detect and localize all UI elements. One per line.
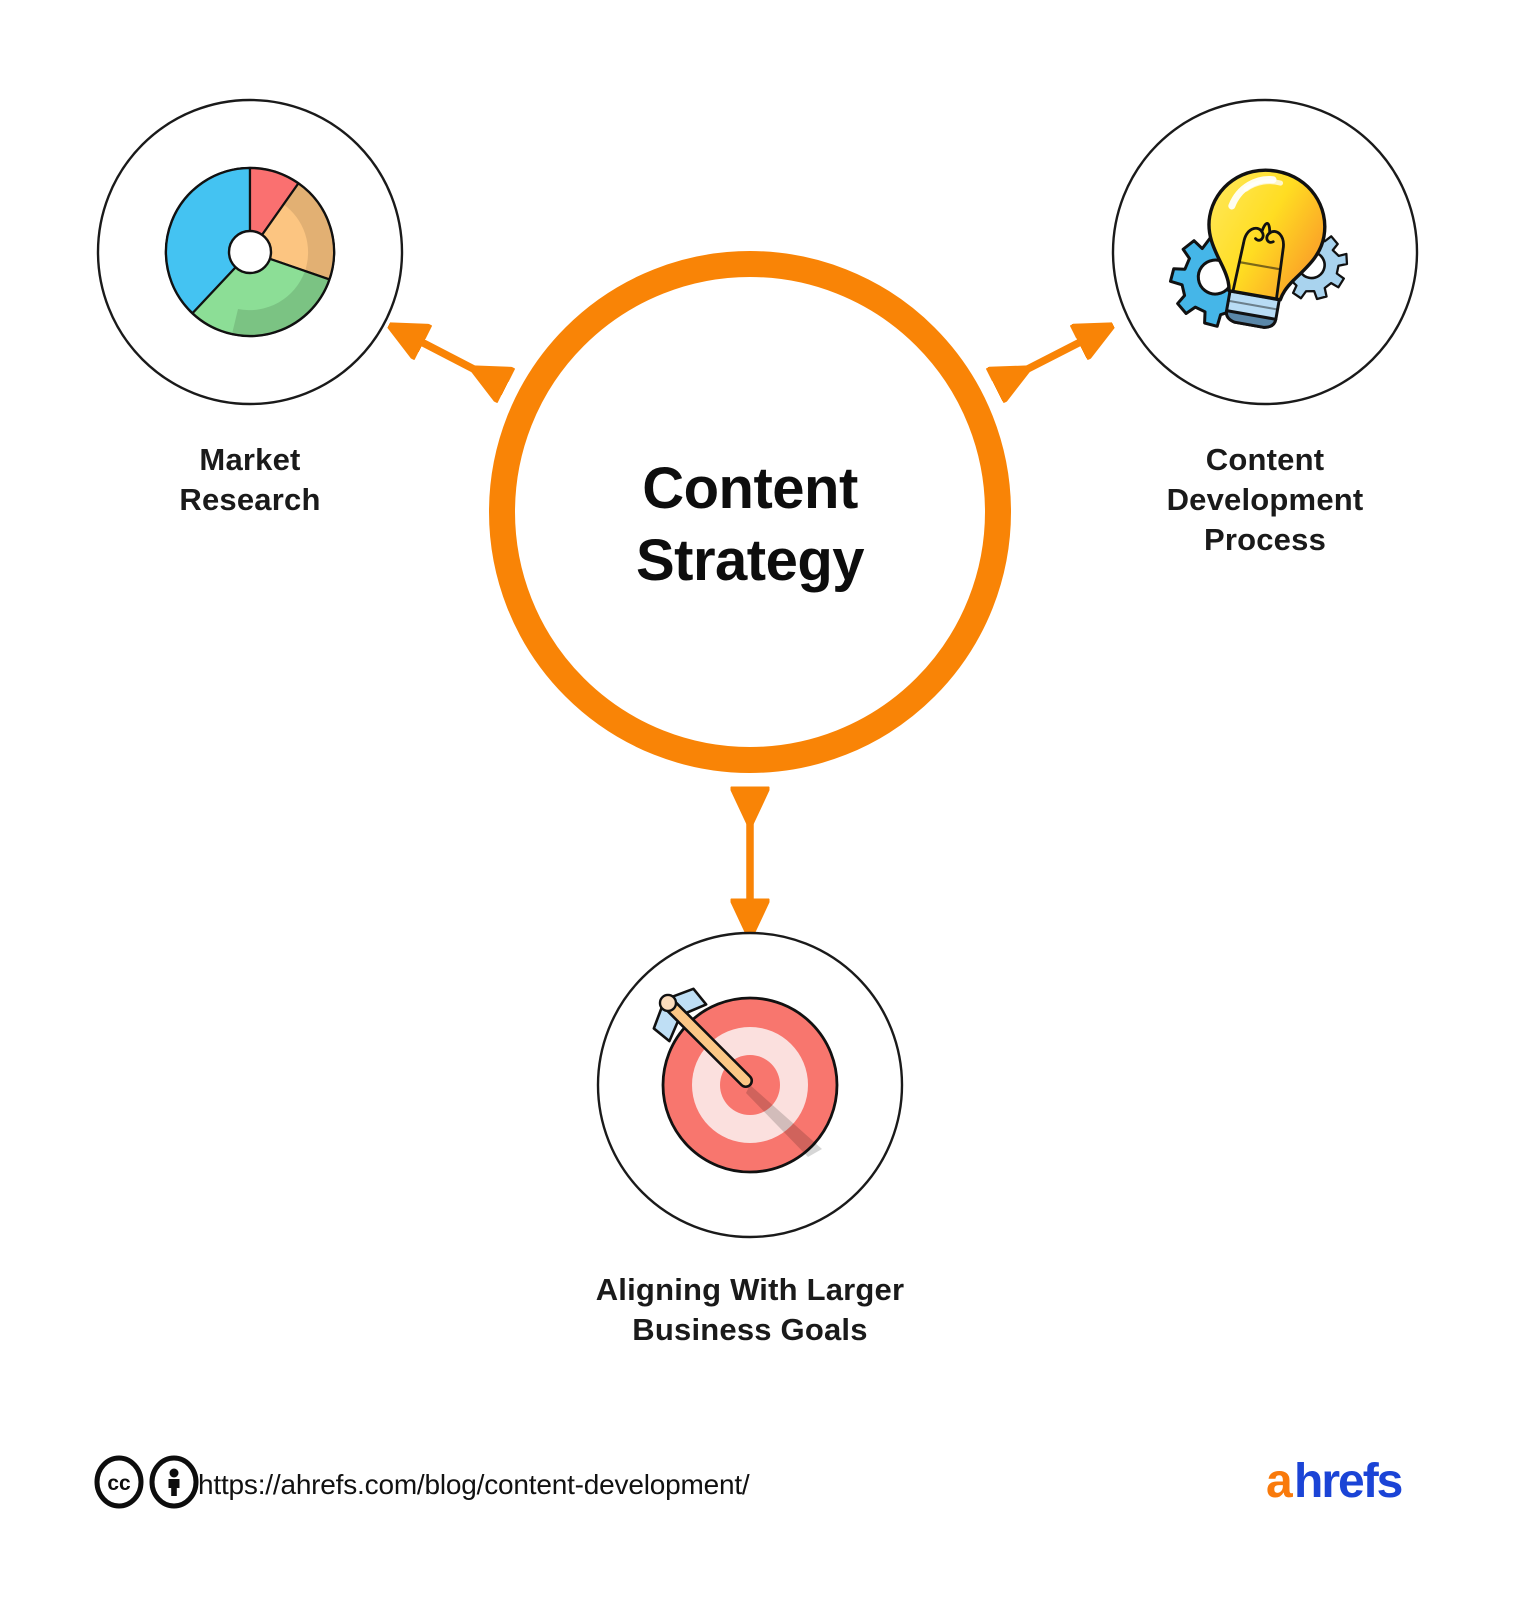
connector-hub-to-market-research: [406, 334, 489, 377]
node-label-content-development-line3: Process: [1204, 522, 1326, 557]
hub-node[interactable]: Content Strategy: [502, 264, 998, 760]
svg-text:cc: cc: [107, 1472, 131, 1495]
node-content-development-process[interactable]: Content Development Process: [1113, 100, 1417, 557]
node-label-business-goals-line1: Aligning With Larger: [596, 1272, 905, 1307]
double-arrow-right: [1012, 334, 1096, 377]
cc-by-person-icon: [152, 1458, 196, 1506]
ahrefs-logo-rest: hrefs: [1294, 1455, 1402, 1508]
infographic-canvas: Content Strategy: [0, 0, 1526, 1600]
node-label-market-research-line1: Market: [199, 442, 300, 477]
connector-hub-to-content-development: [1012, 334, 1096, 377]
node-aligning-business-goals[interactable]: Aligning With Larger Business Goals: [596, 933, 905, 1347]
ahrefs-logo[interactable]: a hrefs: [1266, 1455, 1402, 1508]
node-label-content-development-line2: Development: [1167, 482, 1364, 517]
cc-icon: cc: [97, 1458, 141, 1506]
node-label-business-goals-line2: Business Goals: [632, 1312, 867, 1347]
pie-chart-icon: [166, 168, 334, 336]
node-label-market-research-line2: Research: [179, 482, 320, 517]
hub-label-line1: Content: [642, 456, 858, 521]
double-arrow-left: [406, 334, 489, 377]
content-strategy-diagram: Content Strategy: [0, 0, 1526, 1600]
ahrefs-logo-a: a: [1266, 1455, 1293, 1508]
node-market-research[interactable]: Market Research: [98, 100, 402, 517]
node-label-content-development-line1: Content: [1206, 442, 1324, 477]
footer-url[interactable]: https://ahrefs.com/blog/content-developm…: [198, 1469, 750, 1500]
footer: cc https://ahrefs.com/blog/content-devel…: [97, 1455, 1402, 1508]
hub-label-line2: Strategy: [636, 528, 864, 593]
